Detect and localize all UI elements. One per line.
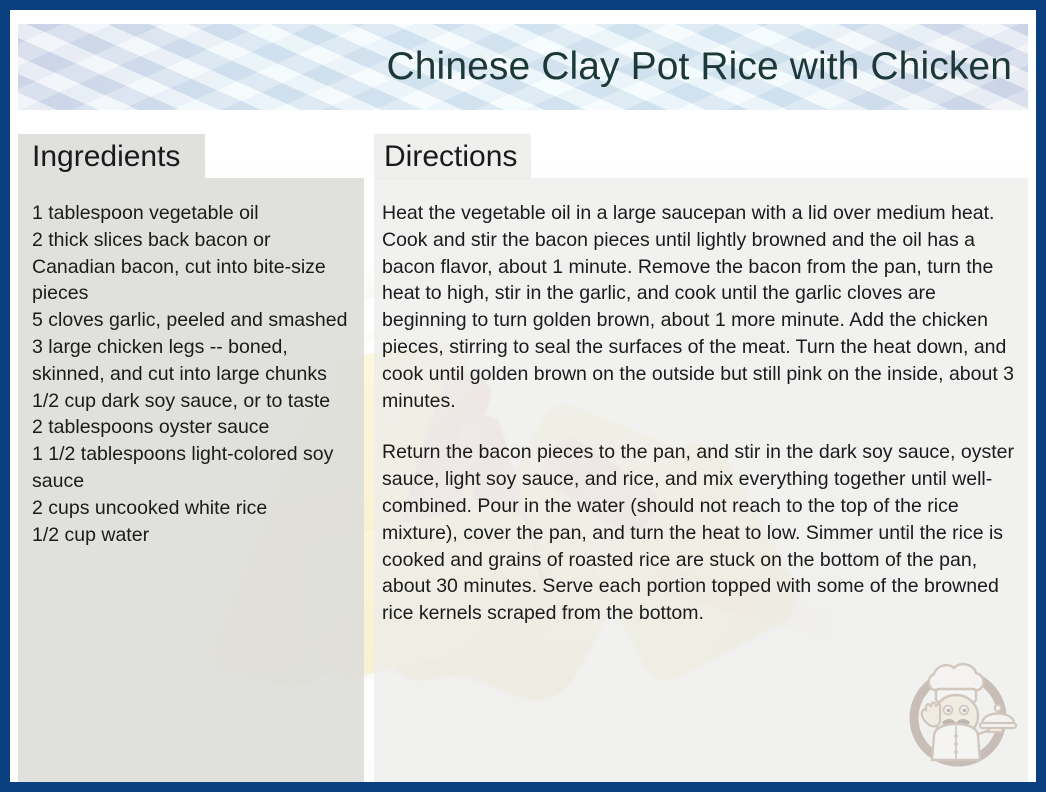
list-item: 2 cups uncooked white rice <box>32 495 350 522</box>
list-item: 2 tablespoons oyster sauce <box>32 414 350 441</box>
slide-inner: Chinese Clay Pot Rice with Chicken Ingre… <box>10 10 1036 782</box>
directions-header: Directions <box>374 134 531 180</box>
title-banner: Chinese Clay Pot Rice with Chicken <box>18 24 1028 110</box>
list-item: 1/2 cup water <box>32 522 350 549</box>
ingredients-header: Ingredients <box>18 134 205 180</box>
list-item: 1 1/2 tablespoons light-colored soy sauc… <box>32 441 350 495</box>
recipe-slide: Chinese Clay Pot Rice with Chicken Ingre… <box>0 0 1046 792</box>
list-item: 1/2 cup dark soy sauce, or to taste <box>32 388 350 415</box>
list-item: 2 thick slices back bacon or Canadian ba… <box>32 227 350 307</box>
recipe-title: Chinese Clay Pot Rice with Chicken <box>387 45 1029 89</box>
list-item: 5 cloves garlic, peeled and smashed <box>32 307 350 334</box>
ingredients-list: 1 tablespoon vegetable oil 2 thick slice… <box>32 200 350 548</box>
ingredients-header-label: Ingredients <box>32 140 180 174</box>
chef-mascot-icon <box>894 644 1022 772</box>
list-item: 1 tablespoon vegetable oil <box>32 200 350 227</box>
directions-paragraph: Heat the vegetable oil in a large saucep… <box>382 200 1020 414</box>
list-item: 3 large chicken legs -- boned, skinned, … <box>32 334 350 388</box>
directions-paragraph: Return the bacon pieces to the pan, and … <box>382 439 1020 627</box>
ingredients-panel: 1 tablespoon vegetable oil 2 thick slice… <box>18 178 364 782</box>
directions-header-label: Directions <box>384 140 517 174</box>
